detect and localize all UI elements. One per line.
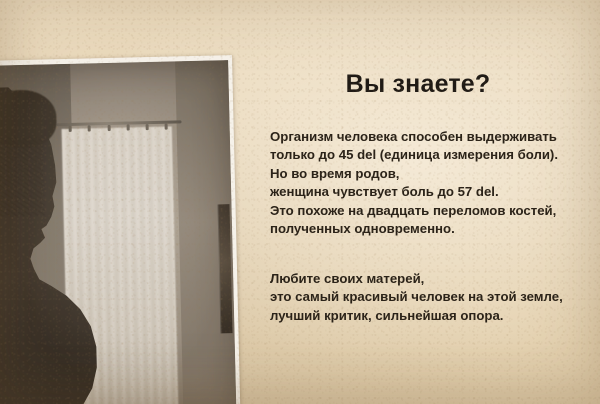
paragraph-fact: Организм человека способен выдерживать т…	[270, 128, 588, 238]
text-line: лучший критик, сильнейшая опора.	[270, 307, 588, 325]
text-line: только до 45 del (единица измерения боли…	[270, 146, 588, 164]
curtain-ring	[165, 124, 168, 130]
text-line: женщина чувствует боль до 57 del.	[270, 183, 588, 201]
curtain-ring	[126, 125, 129, 131]
photo-image: made by crash_b	[0, 60, 237, 404]
text-line: Организм человека способен выдерживать	[270, 128, 588, 146]
text-line: это самый красивый человек на этой земле…	[270, 288, 588, 306]
poster: made by crash_b Вы знаете? Организм чело…	[0, 0, 600, 404]
page-title: Вы знаете?	[268, 70, 568, 99]
text-line: полученных одновременно.	[270, 220, 588, 238]
curtain-ring	[146, 125, 149, 131]
hair-strands	[0, 136, 44, 216]
photo: made by crash_b	[0, 55, 241, 404]
curtain-ring	[107, 125, 110, 131]
text-line: Но во время родов,	[270, 165, 588, 183]
text-line: Любите своих матерей,	[270, 270, 588, 288]
curtain-ring	[69, 126, 72, 132]
text-line: Это похоже на двадцать переломов костей,	[270, 202, 588, 220]
paragraph-appeal: Любите своих матерей, это самый красивый…	[270, 270, 588, 325]
